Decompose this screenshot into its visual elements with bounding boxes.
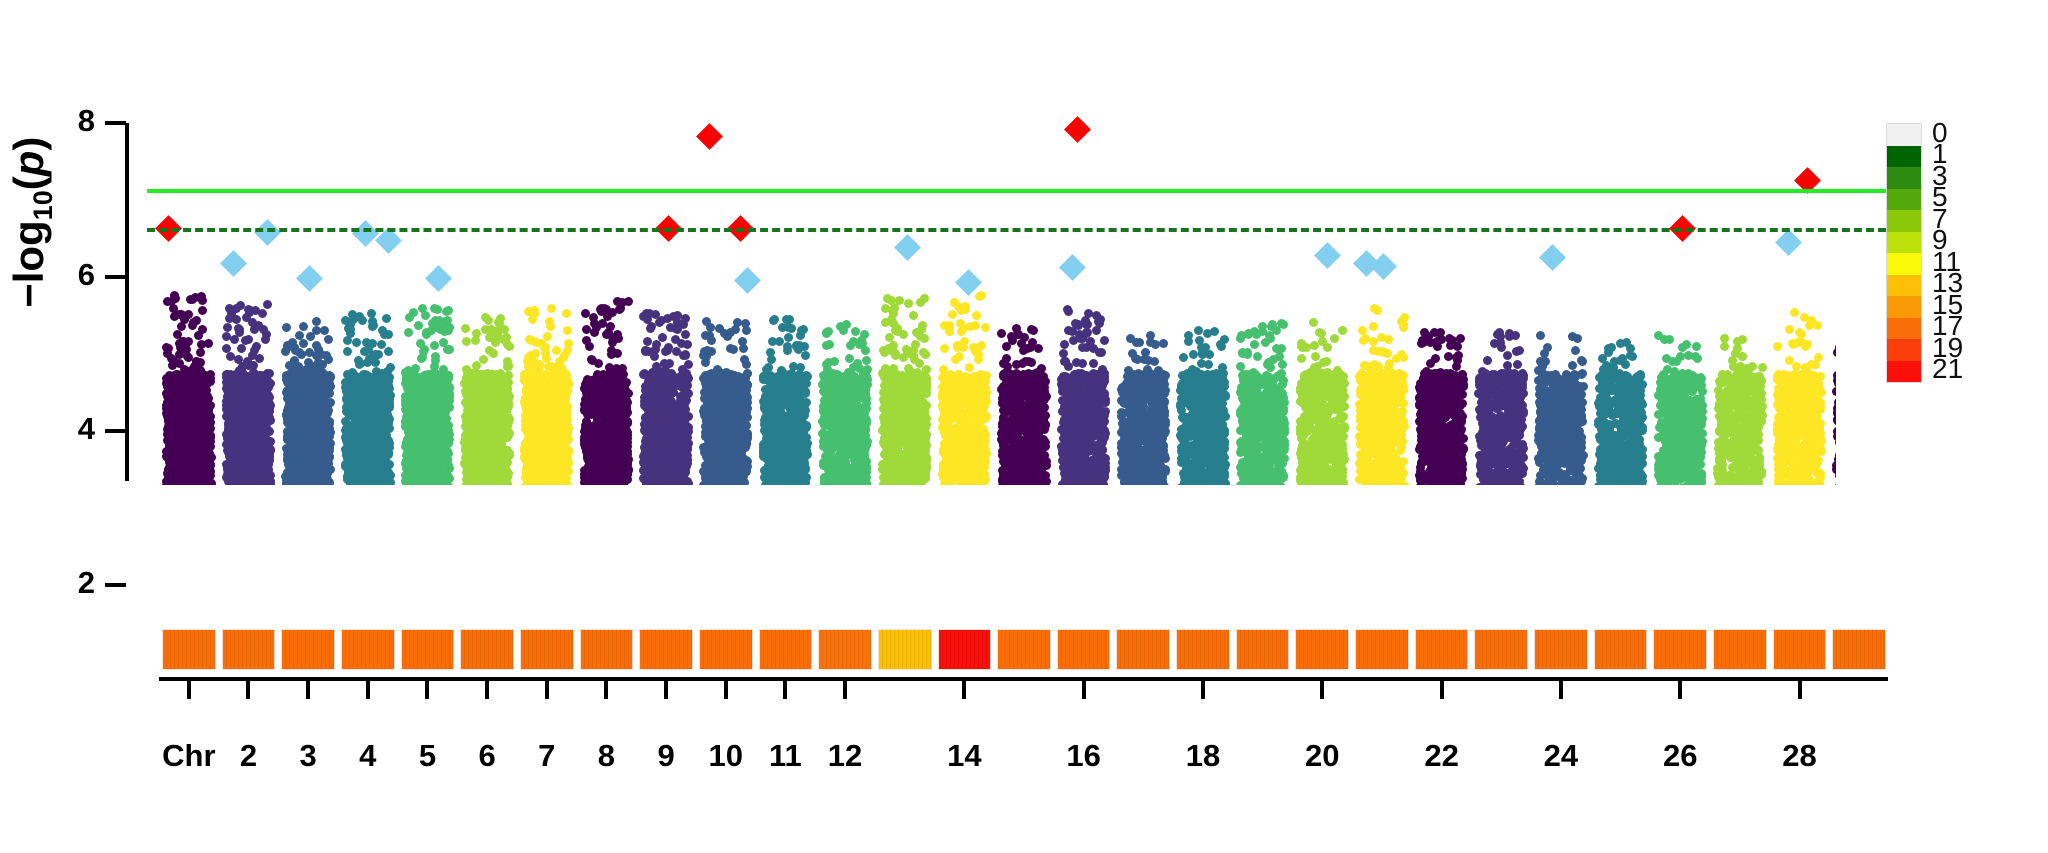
scatter-point <box>225 314 234 323</box>
scatter-point <box>232 478 241 485</box>
scatter-point <box>170 291 179 300</box>
scatter-point <box>188 321 197 330</box>
scatter-point <box>194 435 203 444</box>
scatter-point <box>198 426 207 435</box>
scatter-point <box>295 331 304 340</box>
scatter-point <box>307 405 316 414</box>
y-axis-tick <box>105 121 126 125</box>
scatter-point <box>358 316 367 325</box>
y-axis-title: −log10(p) <box>5 72 59 372</box>
scatter-point <box>297 468 306 477</box>
y-axis-tick-label: 2 <box>55 565 95 601</box>
scatter-point <box>323 480 332 485</box>
scatter-point <box>248 351 257 360</box>
scatter-point <box>320 425 329 434</box>
scatter-point <box>374 350 383 359</box>
scatter-point <box>237 344 246 353</box>
scatter-point <box>312 317 321 326</box>
y-axis-tick <box>105 429 126 433</box>
scatter-point <box>258 309 267 318</box>
scatter-point <box>234 355 243 364</box>
scatter-point <box>227 444 236 453</box>
scatter-point <box>237 463 246 472</box>
scatter-point <box>223 323 232 332</box>
scatter-point <box>371 358 380 367</box>
scatter-point <box>343 347 352 356</box>
scatter-point <box>299 339 308 348</box>
scatter-point <box>299 322 308 331</box>
scatter-point <box>257 458 266 467</box>
scatter-point <box>170 312 179 321</box>
scatter-point <box>368 317 377 326</box>
scatter-point <box>343 336 352 345</box>
scatter-point <box>235 402 244 411</box>
scatter-point <box>198 306 207 315</box>
y-axis-title-subscript: 10 <box>28 190 58 220</box>
scatter-point <box>315 435 324 444</box>
scatter-point <box>253 394 262 403</box>
scatter-point <box>288 484 297 485</box>
scatter-point <box>307 473 316 482</box>
scatter-point <box>384 347 393 356</box>
scatter-point <box>242 393 251 402</box>
scatter-point <box>299 371 308 380</box>
scatter-point <box>177 381 186 390</box>
plot-area <box>129 110 1836 485</box>
y-axis-title-variable: p <box>5 151 52 177</box>
scatter-point <box>324 335 333 344</box>
scatter-point <box>283 456 292 465</box>
y-axis-tick-label: 8 <box>55 103 95 139</box>
scatter-point <box>290 356 299 365</box>
manhattan-plot-figure: −log10(p) 8642 Chr2345678910111214161820… <box>0 0 2048 853</box>
scatter-point <box>244 335 253 344</box>
scatter-point <box>256 482 265 485</box>
scatter-point <box>266 477 275 485</box>
scatter-point <box>293 388 302 397</box>
scatter-point <box>194 410 203 419</box>
scatter-point <box>382 314 391 323</box>
y-axis-tick-label: 4 <box>55 411 95 447</box>
scatter-point <box>349 315 358 324</box>
scatter-point <box>196 468 205 477</box>
scatter-point <box>162 343 171 352</box>
scatter-point <box>181 422 190 431</box>
y-axis-tick-label: 6 <box>55 257 95 293</box>
scatter-point <box>168 361 177 370</box>
scatter-point <box>265 453 274 462</box>
scatter-point <box>196 358 205 367</box>
scatter-point <box>352 338 361 347</box>
y-axis-title-prefix: −log <box>5 220 52 308</box>
scatter-point <box>198 325 207 334</box>
scatter-point <box>346 325 355 334</box>
scatter-point <box>282 323 291 332</box>
scatter-point <box>263 390 272 399</box>
y-axis-title-open-paren: ( <box>5 176 52 190</box>
scatter-point <box>204 458 213 467</box>
scatter-point <box>304 358 313 367</box>
scatter-point <box>186 408 195 417</box>
scatter-point <box>364 345 373 354</box>
scatter-point <box>242 443 251 452</box>
y-axis-title-close-paren: ) <box>5 137 52 151</box>
scatter-point <box>258 412 267 421</box>
scatter-point <box>196 348 205 357</box>
scatter-point <box>180 480 189 485</box>
scatter-point <box>225 420 234 429</box>
scatter-point <box>295 348 304 357</box>
scatter-point <box>284 373 293 382</box>
y-axis-tick <box>105 275 126 279</box>
scatter-point <box>236 301 245 310</box>
scatter-point <box>181 467 190 476</box>
scatter-point <box>305 453 314 462</box>
scatter-point <box>204 339 213 348</box>
scatter-point <box>324 372 333 381</box>
scatter-point <box>263 300 272 309</box>
scatter-point <box>205 435 214 444</box>
scatter-point <box>249 376 258 385</box>
scatter-point <box>167 473 176 482</box>
scatter-point <box>380 330 389 339</box>
scatter-point <box>171 419 180 428</box>
scatter-point <box>312 326 321 335</box>
scatter-point <box>316 448 325 457</box>
scatter-point <box>177 322 186 331</box>
y-axis-tick <box>105 583 126 587</box>
